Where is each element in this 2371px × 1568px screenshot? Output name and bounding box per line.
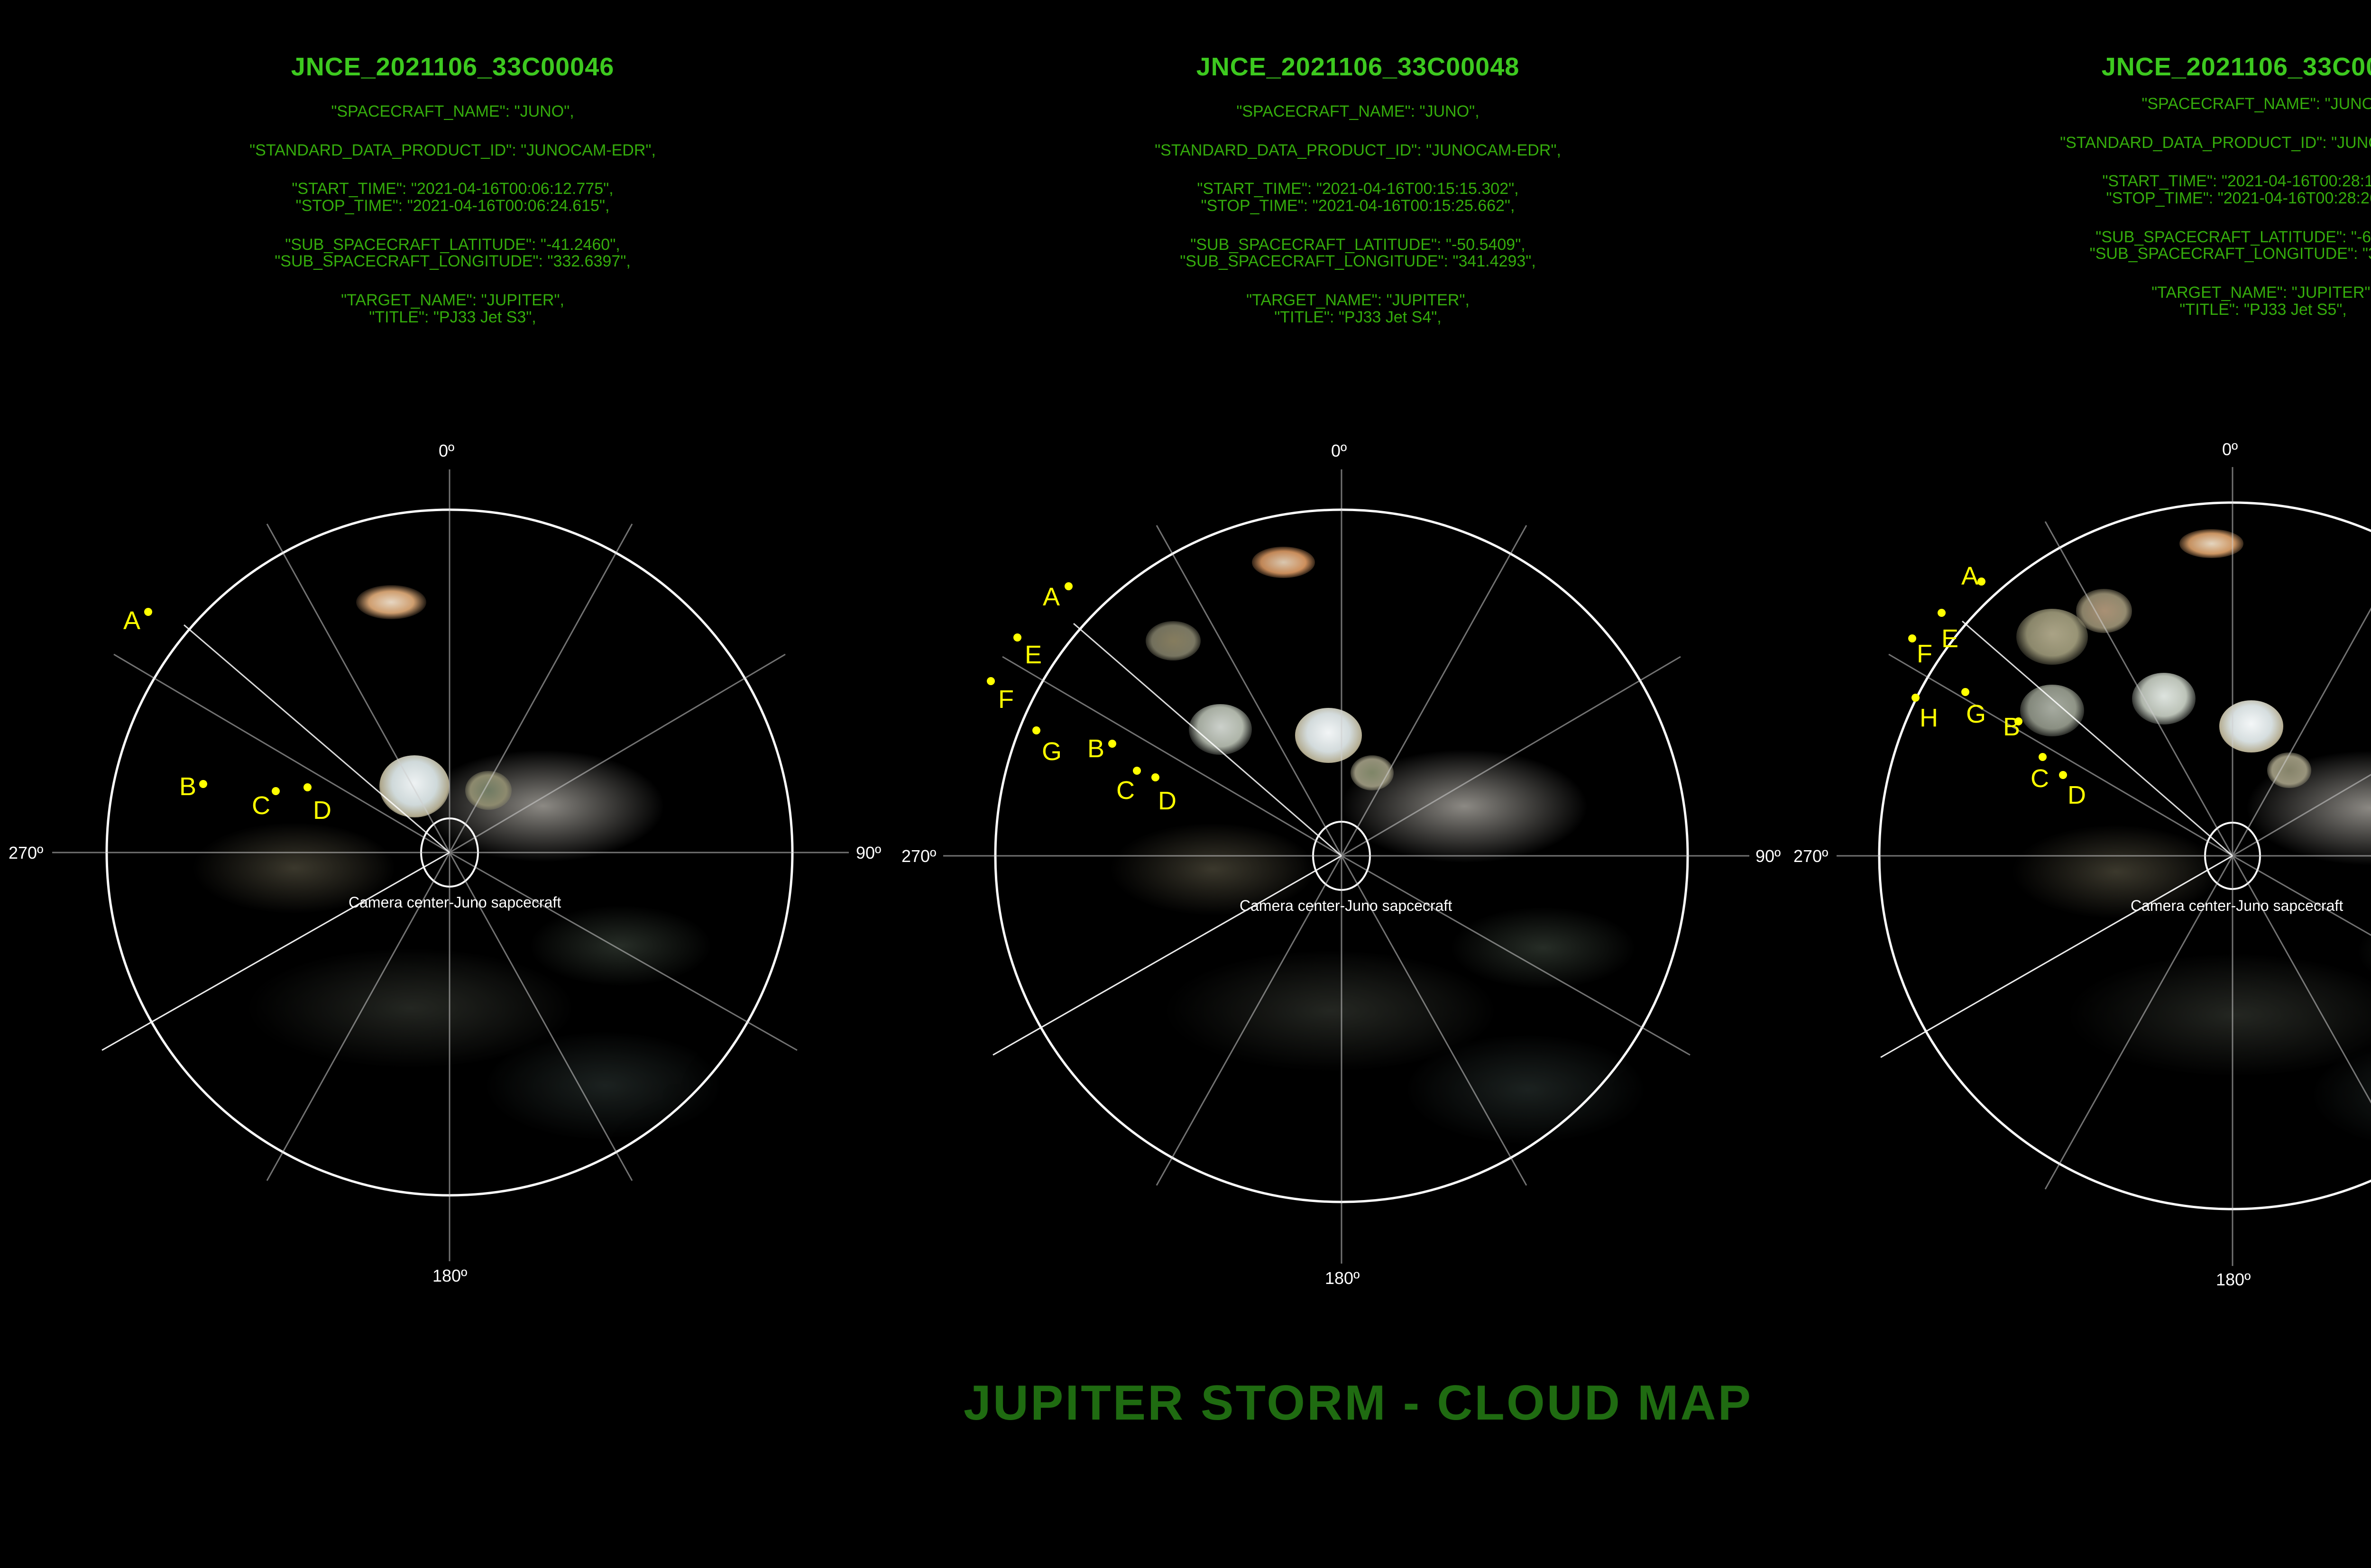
polar-grid-1 (905, 455, 1810, 1328)
file-title-0: JNCE_2021106_33C00046 (0, 52, 905, 82)
meta-target-name-1: "TARGET_NAME": "JUPITER", (905, 292, 1810, 309)
image-panel-0: JNCE_2021106_33C00046 "SPACECRAFT_NAME":… (0, 0, 905, 1328)
storm-marker-c-0: C (252, 793, 270, 818)
storm-dot-e-1 (1013, 633, 1021, 642)
storm-dot-c-2 (2039, 753, 2047, 761)
axis-label-left-1: 270º (901, 846, 936, 866)
metadata-block-2: JNCE_2021106_33C00050 "SPACECRAFT_NAME":… (1810, 52, 2371, 319)
axis-label-bottom-0: 180º (432, 1266, 467, 1286)
storm-dot-b-1 (1108, 740, 1116, 748)
meta-product-id-2: "STANDARD_DATA_PRODUCT_ID": "JUNOCAM-EDR… (1810, 135, 2371, 152)
storm-dot-a-0 (144, 608, 152, 616)
meta-sub-lon-0: "SUB_SPACECRAFT_LONGITUDE": "332.6397", (0, 253, 905, 270)
storm-dot-c-1 (1133, 767, 1141, 775)
axis-label-top-0: 0º (439, 441, 454, 461)
storm-dot-b-0 (199, 780, 207, 788)
meta-sub-lon-1: "SUB_SPACECRAFT_LONGITUDE": "341.4293", (905, 253, 1810, 270)
meta-spacecraft-name-0: "SPACECRAFT_NAME": "JUNO", (0, 103, 905, 120)
storm-marker-e-1: E (1025, 642, 1042, 668)
storm-dot-d-1 (1151, 773, 1159, 781)
meta-stop-time-2: "STOP_TIME": "2021-04-16T00:28:26.978", (1810, 190, 2371, 207)
meta-sub-lat-1: "SUB_SPACECRAFT_LATITUDE": "-50.5409", (905, 237, 1810, 254)
storm-dot-b-2 (2014, 717, 2022, 725)
meta-stop-time-1: "STOP_TIME": "2021-04-16T00:15:25.662", (905, 198, 1810, 215)
storm-dot-d-2 (2059, 771, 2067, 779)
meta-sub-lat-2: "SUB_SPACECRAFT_LATITUDE": "-60.1856", (1810, 229, 2371, 246)
meta-title-2: "TITLE": "PJ33 Jet S5", (1810, 302, 2371, 319)
storm-marker-f-1: F (998, 687, 1014, 712)
metadata-block-0: JNCE_2021106_33C00046 "SPACECRAFT_NAME":… (0, 52, 905, 326)
meta-start-time-2: "START_TIME": "2021-04-16T00:28:18.098", (1810, 173, 2371, 190)
storm-dot-a-2 (1977, 578, 1985, 586)
storm-marker-b-1: B (1087, 736, 1104, 761)
polar-plot-1: 0º 90º 180º 270º Camera center-Juno sapc… (905, 455, 1810, 1328)
image-panel-1: JNCE_2021106_33C00048 "SPACECRAFT_NAME":… (905, 0, 1810, 1328)
meta-sub-lon-2: "SUB_SPACECRAFT_LONGITUDE": "354.681", (1810, 246, 2371, 263)
footer: JUPITER STORM - CLOUD MAP (0, 1375, 2371, 1431)
meta-spacecraft-name-1: "SPACECRAFT_NAME": "JUNO", (905, 103, 1810, 120)
meta-product-id-1: "STANDARD_DATA_PRODUCT_ID": "JUNOCAM-EDR… (905, 142, 1810, 159)
storm-dot-e-2 (1938, 609, 1946, 617)
storm-marker-b-0: B (179, 774, 196, 799)
meta-sub-lat-0: "SUB_SPACECRAFT_LATITUDE": "-41.2460", (0, 237, 905, 254)
axis-label-left-2: 270º (1793, 846, 1828, 866)
storm-marker-h-2: H (1920, 705, 1938, 731)
storm-marker-g-1: G (1042, 739, 1062, 764)
axis-label-top-2: 0º (2222, 440, 2238, 459)
storm-marker-e-2: E (1941, 626, 1958, 651)
camera-center-label-0: Camera center-Juno sapcecraft (349, 894, 561, 911)
meta-start-time-1: "START_TIME": "2021-04-16T00:15:15.302", (905, 181, 1810, 198)
storm-dot-a-1 (1065, 582, 1073, 590)
storm-marker-f-2: F (1917, 641, 1932, 667)
camera-center-label-2: Camera center-Juno sapcecraft (2131, 897, 2343, 915)
storm-marker-d-1: D (1158, 788, 1176, 814)
jupiter-storm-cloud-map-page: { "page": { "background": "#000000", "fo… (0, 0, 2371, 1568)
storm-dot-g-2 (1961, 688, 1969, 696)
storm-marker-a-0: A (123, 608, 140, 633)
axis-label-top-1: 0º (1331, 441, 1347, 461)
meta-title-1: "TITLE": "PJ33 Jet S4", (905, 309, 1810, 326)
storm-dot-h-2 (1912, 694, 1920, 702)
axis-label-right-0: 90º (856, 843, 881, 863)
meta-target-name-2: "TARGET_NAME": "JUPITER", (1810, 284, 2371, 302)
storm-marker-c-1: C (1116, 778, 1135, 803)
axis-label-right-1: 90º (1755, 846, 1781, 866)
polar-plot-2: 0º 90º 180º 270º Camera center-Juno sapc… (1810, 455, 2371, 1328)
meta-stop-time-0: "STOP_TIME": "2021-04-16T00:06:24.615", (0, 198, 905, 215)
page-title: JUPITER STORM - CLOUD MAP (0, 1375, 2371, 1431)
storm-marker-c-2: C (2031, 766, 2049, 791)
polar-grid-0 (0, 455, 905, 1328)
storm-dot-g-1 (1032, 726, 1040, 734)
file-title-1: JNCE_2021106_33C00048 (905, 52, 1810, 82)
polar-plot-0: 0º 90º 180º 270º Camera center-Juno sapc… (0, 455, 905, 1328)
storm-dot-f-1 (987, 677, 995, 685)
meta-spacecraft-name-2: "SPACECRAFT_NAME": "JUNO", (1810, 96, 2371, 113)
meta-title-0: "TITLE": "PJ33 Jet S3", (0, 309, 905, 326)
meta-start-time-0: "START_TIME": "2021-04-16T00:06:12.775", (0, 181, 905, 198)
metadata-block-1: JNCE_2021106_33C00048 "SPACECRAFT_NAME":… (905, 52, 1810, 326)
meta-product-id-0: "STANDARD_DATA_PRODUCT_ID": "JUNOCAM-EDR… (0, 142, 905, 159)
image-panel-2: JNCE_2021106_33C00050 "SPACECRAFT_NAME":… (1810, 0, 2371, 1328)
polar-grid-2 (1810, 455, 2371, 1328)
storm-dot-c-0 (272, 787, 280, 795)
storm-dot-d-0 (303, 783, 312, 791)
file-title-2: JNCE_2021106_33C00050 (1810, 52, 2371, 82)
storm-marker-d-0: D (313, 798, 331, 823)
storm-marker-d-2: D (2068, 782, 2086, 808)
storm-marker-a-1: A (1043, 584, 1060, 610)
axis-label-left-0: 270º (9, 843, 43, 863)
storm-marker-a-2: A (1961, 563, 1978, 589)
storm-marker-g-2: G (1966, 701, 1986, 727)
axis-label-bottom-1: 180º (1325, 1268, 1360, 1288)
storm-dot-f-2 (1908, 634, 1916, 642)
camera-center-label-1: Camera center-Juno sapcecraft (1240, 897, 1452, 915)
axis-label-bottom-2: 180º (2216, 1270, 2251, 1290)
meta-target-name-0: "TARGET_NAME": "JUPITER", (0, 292, 905, 309)
